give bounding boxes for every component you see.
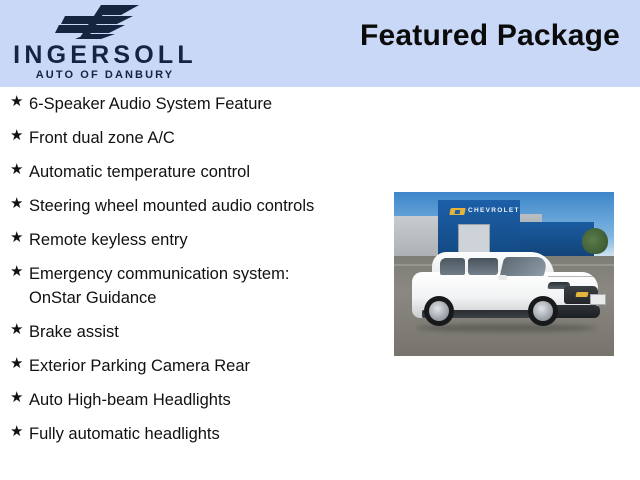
brand-name: INGERSOLL bbox=[8, 42, 202, 68]
side-window bbox=[468, 258, 498, 275]
dealership-sign-text: CHEVROLET bbox=[468, 207, 520, 214]
brand-subtitle: AUTO OF DANBURY bbox=[8, 69, 202, 81]
list-item: ★ Automatic temperature control bbox=[0, 156, 380, 190]
list-item-label: 6-Speaker Audio System Feature bbox=[29, 88, 380, 116]
list-item: ★ 6-Speaker Audio System Feature bbox=[0, 88, 380, 122]
list-item-label: Remote keyless entry bbox=[29, 224, 380, 252]
list-item: ★ Emergency communication system: OnStar… bbox=[0, 258, 380, 316]
vehicle-photo: CHEVROLET bbox=[388, 186, 620, 362]
windshield bbox=[500, 257, 548, 276]
chevrolet-traverse-suv bbox=[406, 250, 602, 336]
star-bullet-icon: ★ bbox=[10, 258, 29, 286]
dealer-brand-logo: INGERSOLL AUTO OF DANBURY bbox=[0, 0, 210, 87]
front-bumper bbox=[552, 305, 600, 318]
hood-line bbox=[548, 276, 596, 277]
star-bullet-icon: ★ bbox=[10, 156, 29, 184]
list-item-label: Automatic temperature control bbox=[29, 156, 380, 184]
list-item-label: Emergency communication system: OnStar G… bbox=[29, 258, 380, 310]
featured-package-list: ★ 6-Speaker Audio System Feature ★ Front… bbox=[0, 88, 380, 452]
rear-window bbox=[440, 258, 465, 275]
rear-wheel bbox=[424, 296, 454, 326]
list-item: ★ Auto High-beam Headlights bbox=[0, 384, 380, 418]
front-wheel bbox=[528, 296, 558, 326]
star-bullet-icon: ★ bbox=[10, 122, 29, 150]
star-bullet-icon: ★ bbox=[10, 224, 29, 252]
list-item: ★ Fully automatic headlights bbox=[0, 418, 380, 452]
list-item: ★ Exterior Parking Camera Rear bbox=[0, 350, 380, 384]
list-item: ★ Steering wheel mounted audio controls bbox=[0, 190, 380, 224]
page-title: Featured Package bbox=[360, 19, 620, 53]
list-item: ★ Brake assist bbox=[0, 316, 380, 350]
list-item: ★ Front dual zone A/C bbox=[0, 122, 380, 156]
list-item-label: Fully automatic headlights bbox=[29, 418, 380, 446]
ingersoll-winged-emblem-icon bbox=[47, 4, 167, 40]
star-bullet-icon: ★ bbox=[10, 384, 29, 412]
list-item-label: Brake assist bbox=[29, 316, 380, 344]
page-header: INGERSOLL AUTO OF DANBURY Featured Packa… bbox=[0, 0, 640, 87]
list-item-label: Auto High-beam Headlights bbox=[29, 384, 380, 412]
list-item: ★ Remote keyless entry bbox=[0, 224, 380, 258]
list-item-label: Exterior Parking Camera Rear bbox=[29, 350, 380, 378]
star-bullet-icon: ★ bbox=[10, 190, 29, 218]
chevrolet-bowtie-icon bbox=[575, 292, 588, 297]
chevrolet-bowtie-icon bbox=[449, 208, 465, 215]
list-item-label: Steering wheel mounted audio controls bbox=[29, 190, 380, 218]
star-bullet-icon: ★ bbox=[10, 316, 29, 344]
star-bullet-icon: ★ bbox=[10, 418, 29, 446]
star-bullet-icon: ★ bbox=[10, 350, 29, 378]
license-plate bbox=[590, 294, 606, 305]
side-mirror bbox=[498, 275, 507, 280]
star-bullet-icon: ★ bbox=[10, 88, 29, 116]
list-item-label: Front dual zone A/C bbox=[29, 122, 380, 150]
vehicle-photo-canvas: CHEVROLET bbox=[394, 192, 614, 356]
